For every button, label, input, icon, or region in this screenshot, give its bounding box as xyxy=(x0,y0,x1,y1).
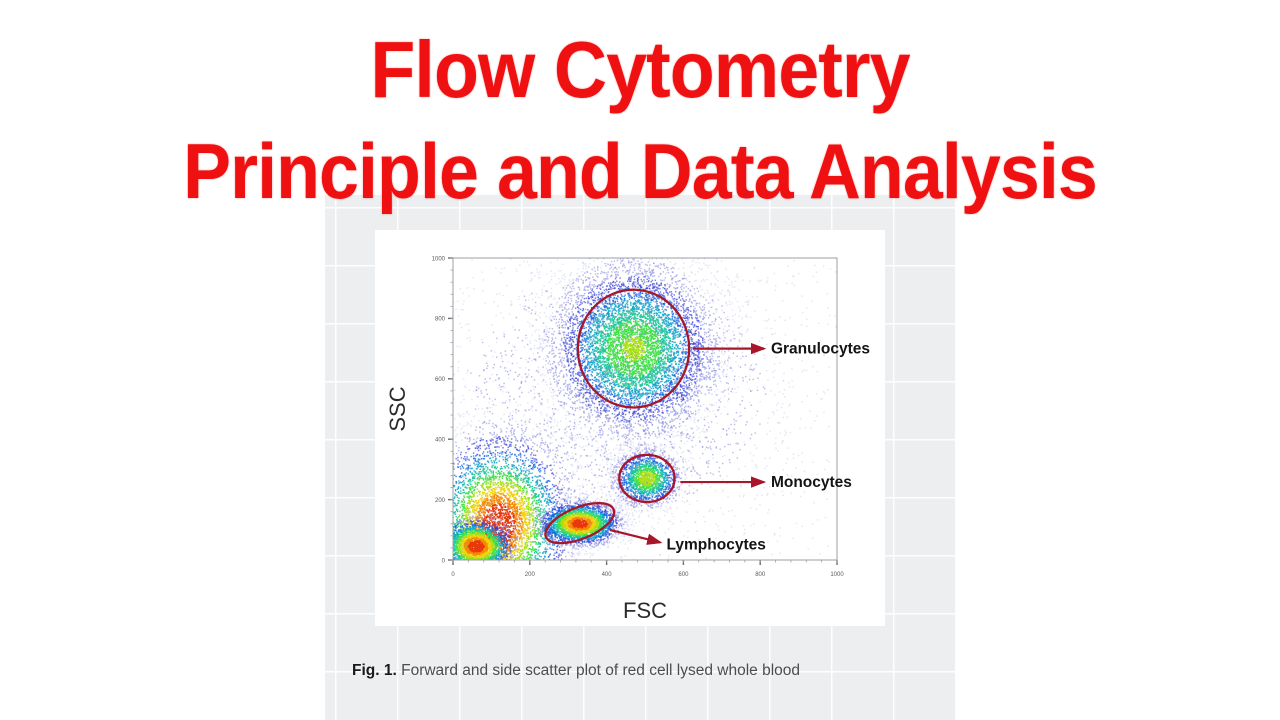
figure-caption-text: Forward and side scatter plot of red cel… xyxy=(397,662,800,679)
figure-card: 0200400600800100002004006008001000 Granu… xyxy=(375,230,885,626)
cluster-label-granulocytes: Granulocytes xyxy=(771,341,870,358)
figure-caption-prefix: Fig. 1. xyxy=(352,662,397,679)
figure-caption: Fig. 1. Forward and side scatter plot of… xyxy=(352,662,952,680)
arrow-lymphocytes xyxy=(610,530,661,543)
scatter-plot: 0200400600800100002004006008001000 Granu… xyxy=(375,230,885,626)
slide-title-block: Flow Cytometry Principle and Data Analys… xyxy=(0,0,1280,210)
scatter-points-layer xyxy=(452,258,836,561)
cluster-label-lymphocytes: Lymphocytes xyxy=(667,536,766,553)
cluster-label-monocytes: Monocytes xyxy=(771,474,852,491)
scatter-plot-svg: 0200400600800100002004006008001000 Granu… xyxy=(375,230,885,626)
y-axis-label: SSC xyxy=(385,386,410,431)
x-axis-label: FSC xyxy=(623,598,667,623)
title-line-primary: Flow Cytometry xyxy=(51,0,1229,110)
annotation-labels: GranulocytesMonocytesLymphocytes xyxy=(667,341,871,554)
